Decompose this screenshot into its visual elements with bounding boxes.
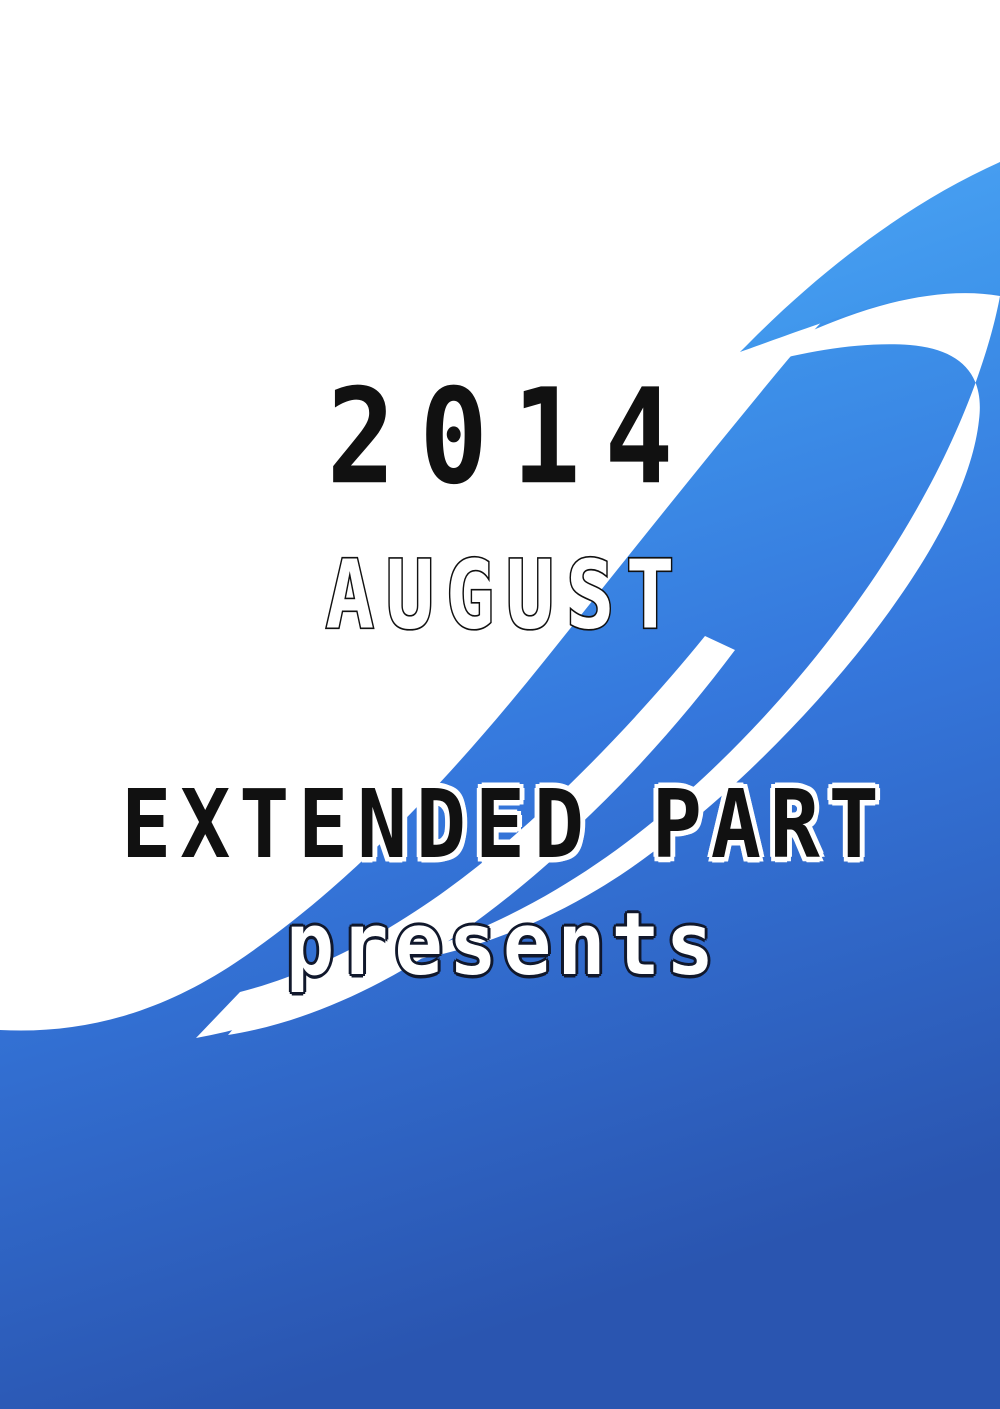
- presents-text: presents: [10, 902, 990, 989]
- circle-name-text: EXTENDED PART: [15, 778, 985, 873]
- year-text: 2014: [40, 372, 960, 503]
- month-text: AUGUST: [20, 548, 980, 642]
- poster-text-layer: 2014 AUGUST EXTENDED PART presents: [0, 0, 1000, 1409]
- poster-page: 2014 AUGUST EXTENDED PART presents: [0, 0, 1000, 1409]
